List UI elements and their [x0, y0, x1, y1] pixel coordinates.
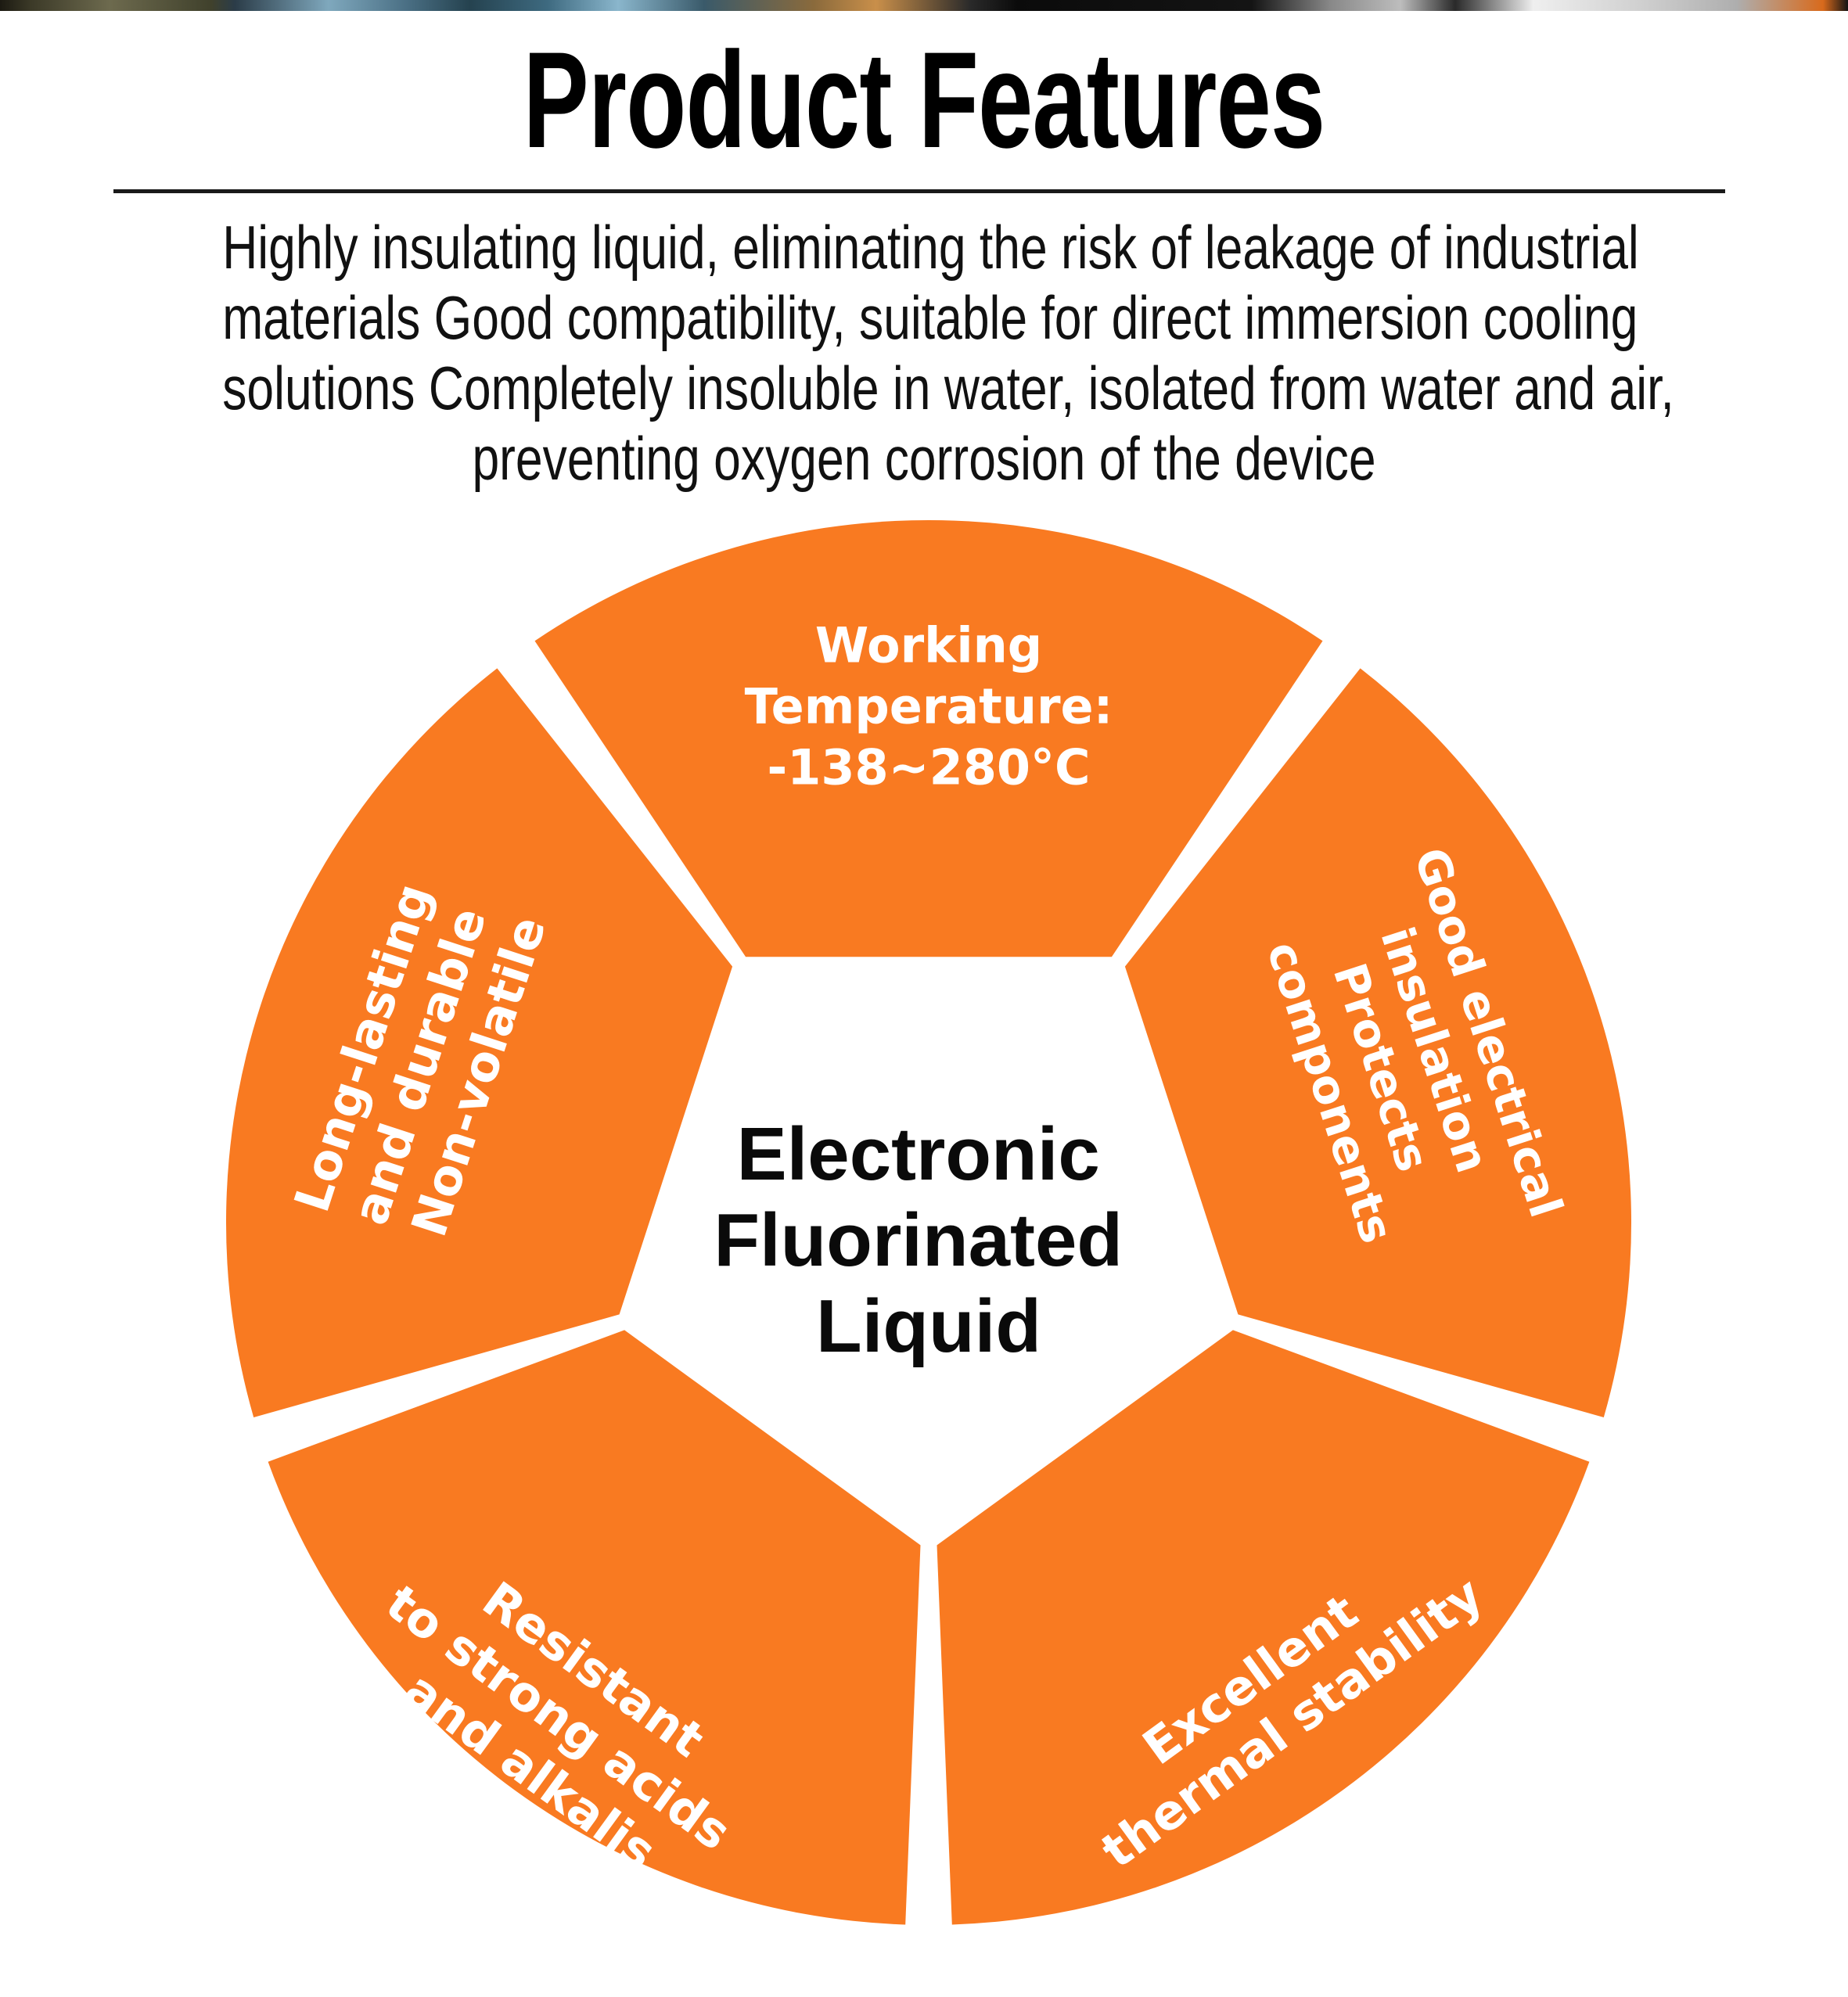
- center-line-1: Electronic: [737, 1112, 1100, 1196]
- title-divider-rule: [113, 189, 1725, 193]
- seg1-line-1: Working: [815, 617, 1042, 674]
- seg1-line-3: -138~280°C: [767, 739, 1090, 796]
- subtitle-line-3: solutions Completely insoluble in water,…: [222, 353, 1626, 423]
- subtitle-line-2: materials Good compatibility, suitable f…: [222, 282, 1626, 353]
- svg-text:-138~280°C: -138~280°C: [767, 739, 1090, 796]
- page-subtitle: Highly insulating liquid, eliminating th…: [222, 212, 1626, 494]
- center-line-3: Liquid: [816, 1284, 1041, 1368]
- svg-text:Temperature:: Temperature:: [745, 678, 1113, 735]
- center-label: Electronic Fluorinated Liquid: [714, 1112, 1143, 1368]
- top-image-remnant-strip: [0, 0, 1848, 11]
- center-line-2: Fluorinated: [714, 1198, 1123, 1282]
- segment-excellent-thermal-stability[interactable]: Excellent thermal stability: [937, 1330, 1590, 1924]
- segment-resistant-acids-alkalis[interactable]: Resistant to strong acids and alkalis: [268, 1330, 921, 1924]
- segment-label-working-temperature: Working: [815, 617, 1042, 674]
- subtitle-line-1: Highly insulating liquid, eliminating th…: [222, 212, 1626, 282]
- donut-diagram: Working Temperature: -138~280°C Good ele…: [0, 469, 1848, 1997]
- header: Product Features Highly insulating liqui…: [0, 20, 1848, 175]
- seg1-line-2: Temperature:: [745, 678, 1113, 735]
- page-title: Product Features: [259, 20, 1590, 175]
- center-label-group: Electronic Fluorinated Liquid: [714, 1112, 1143, 1368]
